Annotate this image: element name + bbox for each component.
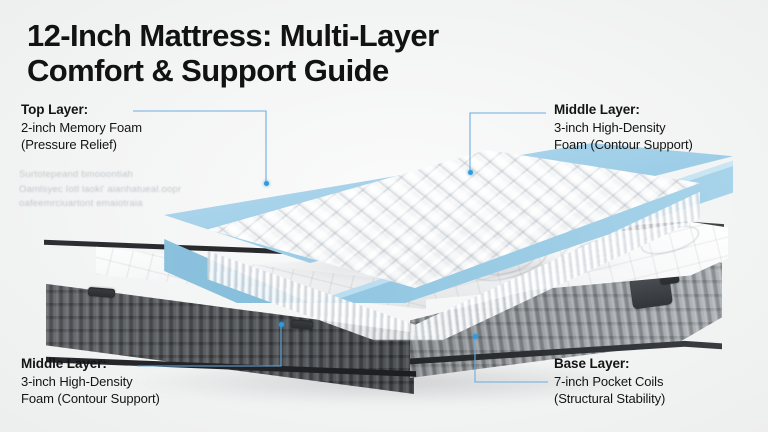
callout-top-layer: Top Layer: 2-inch Memory Foam (Pressure …	[21, 101, 142, 153]
callout-top-layer-heading: Top Layer:	[21, 101, 142, 119]
callout-middle-layer-bottom-heading: Middle Layer:	[21, 355, 160, 373]
brand-badge-middle	[291, 319, 314, 330]
callout-middle-layer-top: Middle Layer: 3-inch High-Density Foam (…	[554, 101, 693, 153]
callout-top-layer-body: 2-inch Memory Foam (Pressure Relief)	[21, 119, 142, 154]
callout-base-layer-heading: Base Layer:	[554, 355, 665, 373]
callout-middle-layer-bottom-body: 3-inch High-Density Foam (Contour Suppor…	[21, 373, 160, 408]
callout-base-layer-body: 7-inch Pocket Coils (Structural Stabilit…	[554, 373, 665, 408]
callout-middle-layer-top-heading: Middle Layer:	[554, 101, 693, 119]
page-title: 12-Inch Mattress: Multi-Layer Comfort & …	[27, 18, 587, 88]
anchor-dot-top-layer	[264, 181, 269, 186]
anchor-dot-base-layer	[473, 334, 478, 339]
callout-middle-layer-bottom: Middle Layer: 3-inch High-Density Foam (…	[21, 355, 160, 407]
anchor-dot-middle-bottom	[279, 322, 284, 327]
infographic-canvas: 12-Inch Mattress: Multi-Layer Comfort & …	[0, 0, 768, 432]
blurred-artifact-text: Surtotepeand bmooontiah Oamlsyec Iotl la…	[19, 168, 219, 212]
anchor-dot-middle-top	[468, 170, 473, 175]
callout-middle-layer-top-body: 3-inch High-Density Foam (Contour Suppor…	[554, 119, 693, 154]
callout-base-layer: Base Layer: 7-inch Pocket Coils (Structu…	[554, 355, 665, 407]
